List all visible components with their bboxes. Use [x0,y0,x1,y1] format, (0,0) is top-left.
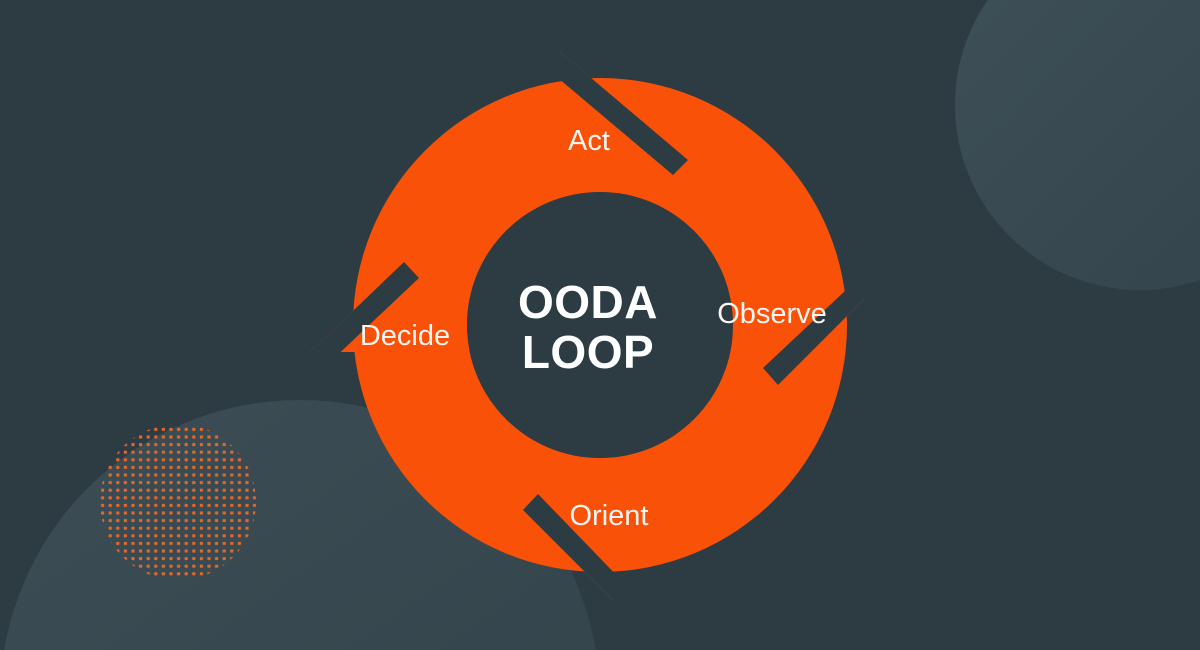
stage-label-act: Act [568,125,610,157]
stage-label-observe: Observe [717,298,827,330]
stage-label-orient: Orient [570,500,649,532]
center-title-line2: LOOP [522,326,654,378]
stage-label-decide: Decide [360,320,450,352]
ooda-cycle-diagram: OODA LOOP Act Observe Orient Decide [0,0,1200,650]
ooda-loop-infographic: OODA LOOP Act Observe Orient Decide [0,0,1200,650]
center-title-line1: OODA [518,276,658,328]
